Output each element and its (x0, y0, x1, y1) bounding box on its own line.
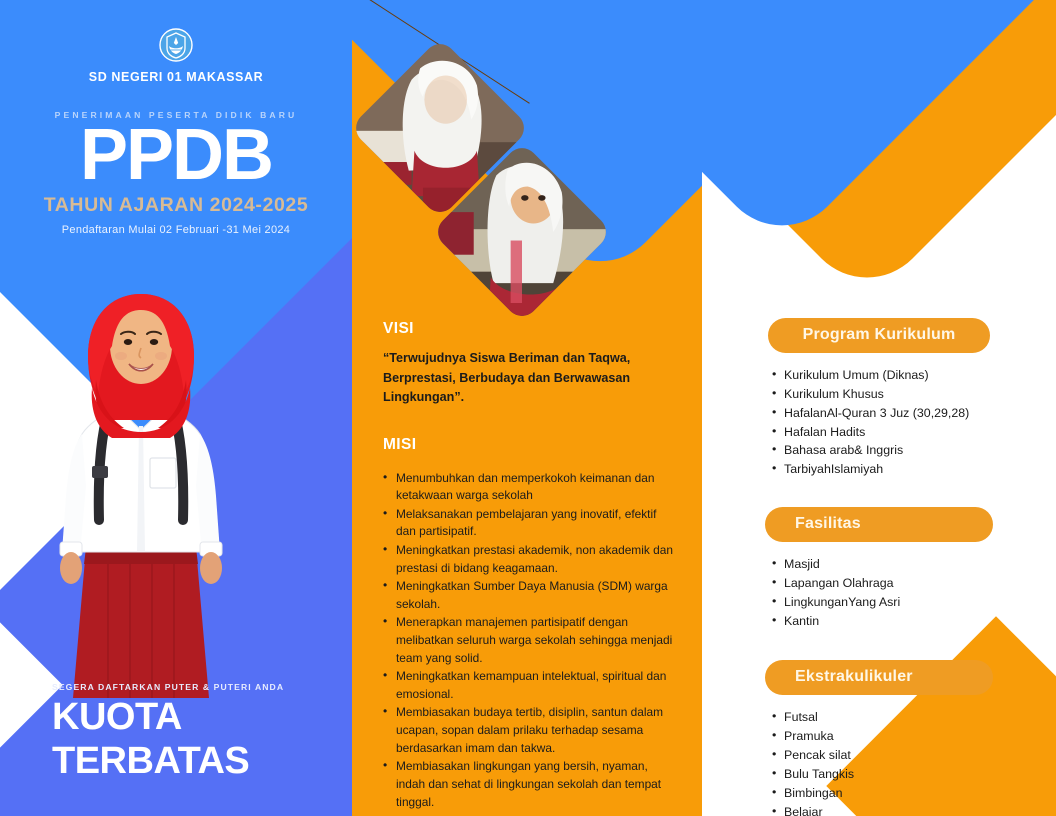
fasilitas-list-item: Masjid (772, 555, 1056, 574)
left-footer: SEGERA DAFTARKAN PUTER & PUTERI ANDA KUO… (52, 682, 284, 780)
right-panel: Program Kurikulum Kurikulum Umum (Diknas… (702, 0, 1056, 816)
quota-line-2: TERBATAS (52, 743, 284, 780)
kurikulum-list-item: Bahasa arab& Inggris (772, 441, 1056, 460)
ppdb-block: PENERIMAAN PESERTA DIDIK BARU PPDB TAHUN… (0, 110, 352, 236)
ekstrakulikuler-list-item: Futsal (772, 708, 1056, 727)
ekstrakulikuler-list-item: Bimbingan (772, 784, 1056, 803)
ekstrakulikuler-header: Ekstrakulikuler (765, 660, 993, 695)
footer-kicker: SEGERA DAFTARKAN PUTER & PUTERI ANDA (52, 682, 284, 692)
kurikulum-list-item: HafalanAl-Quran 3 Juz (30,29,28) (772, 404, 1056, 423)
school-name: SD NEGERI 01 MAKASSAR (0, 70, 352, 84)
center-content: VISI “Terwujudnya Siswa Beriman dan Taqw… (383, 320, 683, 812)
quota-line-1: KUOTA (52, 699, 284, 736)
academic-year: TAHUN AJARAN 2024-2025 (0, 194, 352, 217)
visi-heading: VISI (383, 320, 683, 338)
kurikulum-list-item: Kurikulum Umum (Diknas) (772, 366, 1056, 385)
tut-wuri-handayani-logo-icon (159, 28, 193, 62)
ekstrakulikuler-list-item: Belajar (772, 803, 1056, 816)
ekstrakulikuler-list-item: Pencak silat (772, 746, 1056, 765)
fasilitas-list: MasjidLapangan OlahragaLingkunganYang As… (702, 555, 1056, 630)
left-panel: SD NEGERI 01 MAKASSAR PENERIMAAN PESERTA… (0, 0, 352, 816)
ekstrakulikuler-list-item: Pramuka (772, 727, 1056, 746)
visi-text: “Terwujudnya Siswa Beriman dan Taqwa, Be… (383, 349, 665, 408)
right-content: Program Kurikulum Kurikulum Umum (Diknas… (702, 318, 1056, 816)
fasilitas-header: Fasilitas (765, 507, 993, 542)
misi-list: Menumbuhkan dan memperkokoh keimanan dan… (383, 470, 679, 812)
kurikulum-list: Kurikulum Umum (Diknas)Kurikulum KhususH… (702, 366, 1056, 479)
left-header: SD NEGERI 01 MAKASSAR PENERIMAAN PESERTA… (0, 0, 352, 236)
misi-list-item: Meningkatkan kemampuan intelektual, spir… (383, 668, 679, 703)
misi-list-item: Membiasakan lingkungan yang bersih, nyam… (383, 758, 679, 811)
center-panel: VISI “Terwujudnya Siswa Beriman dan Taqw… (352, 0, 702, 816)
misi-list-item: Membiasakan budaya tertib, disiplin, san… (383, 704, 679, 757)
misi-heading: MISI (383, 436, 683, 454)
misi-list-item: Melaksanakan pembelajaran yang inovatif,… (383, 506, 679, 541)
kurikulum-list-item: Hafalan Hadits (772, 423, 1056, 442)
registration-dates: Pendaftaran Mulai 02 Februari -31 Mei 20… (0, 224, 352, 236)
misi-list-item: Meningkatkan prestasi akademik, non akad… (383, 542, 679, 577)
misi-list-item: Meningkatkan Sumber Daya Manusia (SDM) w… (383, 578, 679, 613)
student-photo (46, 280, 236, 700)
misi-list-item: Menerapkan manajemen partisipatif dengan… (383, 614, 679, 667)
ppdb-title: PPDB (0, 122, 352, 188)
fasilitas-list-item: LingkunganYang Asri (772, 593, 1056, 612)
fasilitas-list-item: Lapangan Olahraga (772, 574, 1056, 593)
kurikulum-list-item: TarbiyahIslamiyah (772, 460, 1056, 479)
ekstrakulikuler-list: FutsalPramukaPencak silatBulu TangkisBim… (702, 708, 1056, 816)
fasilitas-list-item: Kantin (772, 612, 1056, 631)
ppdb-brochure: SD NEGERI 01 MAKASSAR PENERIMAAN PESERTA… (0, 0, 1056, 816)
program-kurikulum-header: Program Kurikulum (768, 318, 990, 353)
misi-list-item: Menumbuhkan dan memperkokoh keimanan dan… (383, 470, 679, 505)
kurikulum-list-item: Kurikulum Khusus (772, 385, 1056, 404)
ekstrakulikuler-list-item: Bulu Tangkis (772, 765, 1056, 784)
